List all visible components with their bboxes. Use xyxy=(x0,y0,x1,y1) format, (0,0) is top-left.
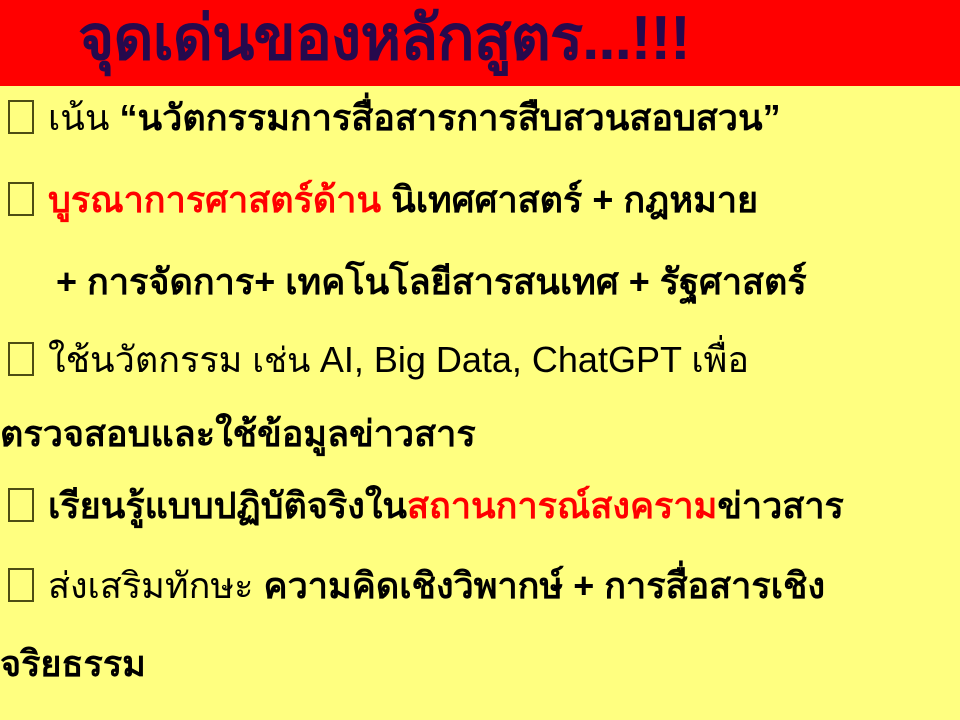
title-banner: จุดเด่นของหลักสูตร...!!! xyxy=(0,0,960,86)
bullet-item-3: ใช้นวัตกรรม เช่น AI, Big Data, ChatGPT เ… xyxy=(0,342,960,378)
bullet-item-5-continuation: จริยธรรม xyxy=(0,646,960,682)
bullet-square-icon xyxy=(8,488,34,522)
bullet-3-run-4: เพื่อ xyxy=(681,339,749,380)
bullet-5-continuation-text: จริยธรรม xyxy=(0,643,146,684)
bullet-2-continuation-text: + การจัดการ+ เทคโนโลยีสารสนเทศ + รัฐศาสต… xyxy=(56,261,807,302)
bullet-5-run-1: ส่งเสริมทักษะ xyxy=(48,565,264,606)
bullet-item-3-continuation: ตรวจสอบและใช้ข้อมูลข่าวสาร xyxy=(0,416,960,452)
bullet-item-2-continuation: + การจัดการ+ เทคโนโลยีสารสนเทศ + รัฐศาสต… xyxy=(0,264,960,300)
bullet-item-2: บูรณาการศาสตร์ด้าน นิเทศศาสตร์ + กฎหมาย xyxy=(0,182,960,218)
bullet-2-run-2: นิเทศศาสตร์ + กฎหมาย xyxy=(381,179,758,220)
bullet-3-run-2: เช่น xyxy=(252,342,319,380)
bullet-item-1: เน้น “นวัตกรรมการสื่อสารการสืบสวนสอบสวน” xyxy=(0,100,960,136)
bullet-4-run-1: เรียนรู้แบบปฏิบัติจริงใน xyxy=(48,485,407,526)
bullet-1-run-1: เน้น xyxy=(48,97,120,138)
bullet-4-run-3: ข่าวสาร xyxy=(717,485,844,526)
bullet-2-run-1: บูรณาการศาสตร์ด้าน xyxy=(48,179,381,220)
bullet-square-icon xyxy=(8,568,34,602)
bullet-item-4: เรียนรู้แบบปฏิบัติจริงในสถานการณ์สงครามข… xyxy=(0,488,960,524)
bullet-5-run-2: ความคิดเชิงวิพากษ์ + การสื่อสารเชิง xyxy=(264,565,826,606)
bullet-3-run-1: ใช้นวัตกรรม xyxy=(48,339,252,380)
bullet-1-run-2: “นวัตกรรมการสื่อสารการสืบสวนสอบสวน” xyxy=(120,97,781,138)
bullet-4-run-2-highlight: สถานการณ์สงคราม xyxy=(407,485,717,526)
slide: จุดเด่นของหลักสูตร...!!! เน้น “นวัตกรรมก… xyxy=(0,0,960,720)
slide-title: จุดเด่นของหลักสูตร...!!! xyxy=(78,0,690,82)
bullet-3-run-3-latin: AI, Big Data, ChatGPT xyxy=(320,339,682,380)
bullet-square-icon xyxy=(8,342,34,376)
bullet-3-continuation-text: ตรวจสอบและใช้ข้อมูลข่าวสาร xyxy=(0,413,476,454)
bullet-square-icon xyxy=(8,100,34,134)
bullet-square-icon xyxy=(8,182,34,216)
bullet-item-5: ส่งเสริมทักษะ ความคิดเชิงวิพากษ์ + การสื… xyxy=(0,568,960,604)
slide-body: เน้น “นวัตกรรมการสื่อสารการสืบสวนสอบสวน”… xyxy=(0,86,960,720)
